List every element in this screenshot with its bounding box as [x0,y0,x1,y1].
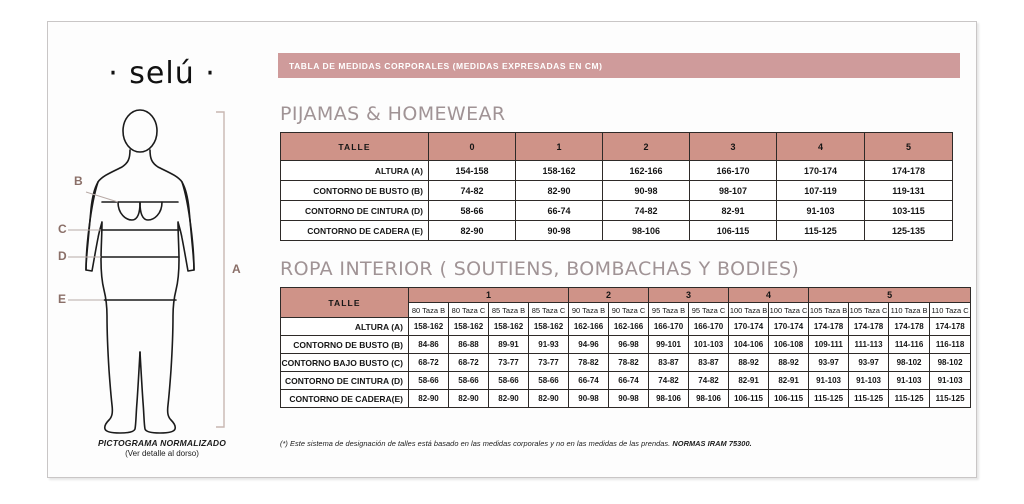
row-label: CONTORNO DE BUSTO (B) [281,336,409,354]
row-label: ALTURA (A) [281,161,429,181]
cell-value: 88-92 [729,354,769,372]
cell-value: 174-178 [889,318,930,336]
cell-value: 174-178 [930,318,971,336]
cell-value: 68-72 [449,354,489,372]
cell-value: 82-91 [690,201,777,221]
cell-value: 68-72 [409,354,449,372]
row-label: CONTORNO DE BUSTO (B) [281,181,429,201]
cell-value: 82-90 [449,390,489,408]
cell-value: 162-166 [609,318,649,336]
measurements-banner: TABLA DE MEDIDAS CORPORALES (MEDIDAS EXP… [278,53,960,78]
table2-group-header: 5 [809,288,971,303]
table1-size-header: 0 [429,133,516,161]
cell-value: 106-115 [729,390,769,408]
picto-label-b: B [74,174,83,188]
table2-talle-header: TALLE [281,288,409,318]
cell-value: 98-106 [603,221,690,241]
cell-value: 90-98 [609,390,649,408]
cell-value: 174-178 [849,318,889,336]
cell-value: 174-178 [865,161,953,181]
cell-value: 82-90 [489,390,529,408]
table2-sub-header: 85 Taza C [529,303,569,318]
cell-value: 74-82 [689,372,729,390]
cell-value: 74-82 [429,181,516,201]
row-label: ALTURA (A) [281,318,409,336]
size-chart-canvas: · selú · [0,0,1024,504]
cell-value: 106-115 [769,390,809,408]
cell-value: 170-174 [769,318,809,336]
section-title-ropa-interior: ROPA INTERIOR ( SOUTIENS, BOMBACHAS Y BO… [280,258,799,280]
pictogram-caption-line2: (Ver detalle al dorso) [48,449,276,460]
cell-value: 82-90 [529,390,569,408]
cell-value: 103-115 [865,201,953,221]
table2-group-header: 3 [649,288,729,303]
table2-sub-header: 80 Taza C [449,303,489,318]
cell-value: 82-90 [409,390,449,408]
cell-value: 115-125 [777,221,865,241]
height-bracket [216,112,224,427]
cell-value: 109-111 [809,336,849,354]
pictogram-caption: PICTOGRAMA NORMALIZADO (Ver detalle al d… [48,438,276,460]
table-row: CONTORNO DE CINTURA (D) 58-66 58-66 58-6… [281,372,971,390]
cell-value: 115-125 [930,390,971,408]
table2-sub-header: 85 Taza B [489,303,529,318]
cell-value: 74-82 [649,372,689,390]
body-pictogram: B C D E A [56,102,268,437]
row-label: CONTORNO BAJO BUSTO (C) [281,354,409,372]
table2-sub-header: 95 Taza C [689,303,729,318]
cell-value: 170-174 [777,161,865,181]
cell-value: 158-162 [489,318,529,336]
cell-value: 158-162 [409,318,449,336]
row-label: CONTORNO DE CINTURA (D) [281,201,429,221]
cell-value: 66-74 [569,372,609,390]
right-panel: TABLA DE MEDIDAS CORPORALES (MEDIDAS EXP… [276,22,976,477]
table-pijamas-homewear: TALLE 0 1 2 3 4 5 ALTURA (A) 154-158 158… [280,132,953,241]
cell-value: 98-106 [649,390,689,408]
cell-value: 78-82 [569,354,609,372]
picto-label-a: A [232,262,241,276]
pictogram-caption-line1: PICTOGRAMA NORMALIZADO [48,438,276,449]
table2-group-header: 2 [569,288,649,303]
cell-value: 82-90 [429,221,516,241]
cell-value: 74-82 [603,201,690,221]
cell-value: 91-103 [930,372,971,390]
cell-value: 66-74 [609,372,649,390]
brand-logo: · selú · [48,56,276,91]
cell-value: 84-86 [409,336,449,354]
row-label: CONTORNO DE CADERA(E) [281,390,409,408]
table2-sub-header: 100 Taza C [769,303,809,318]
footnote: (*) Este sistema de designación de talle… [280,439,970,448]
cell-value: 107-119 [777,181,865,201]
cell-value: 170-174 [729,318,769,336]
footnote-text: (*) Este sistema de designación de talle… [280,439,672,448]
table-row: CONTORNO DE CINTURA (D) 58-66 66-74 74-8… [281,201,953,221]
row-label: CONTORNO DE CINTURA (D) [281,372,409,390]
cell-value: 82-90 [516,181,603,201]
leader-b [86,192,118,202]
cell-value: 166-170 [690,161,777,181]
table-group-header-row: TALLE 1 2 3 4 5 [281,288,971,303]
picto-label-c: C [58,222,67,236]
cell-value: 111-113 [849,336,889,354]
cell-value: 90-98 [603,181,690,201]
cell-value: 98-102 [930,354,971,372]
table1-size-header: 2 [603,133,690,161]
cell-value: 91-103 [849,372,889,390]
cell-value: 115-125 [849,390,889,408]
chart-frame: · selú · [47,21,977,478]
cell-value: 98-106 [689,390,729,408]
cell-value: 158-162 [529,318,569,336]
cell-value: 91-103 [777,201,865,221]
table2-sub-header: 105 Taza C [849,303,889,318]
cell-value: 104-106 [729,336,769,354]
cell-value: 158-162 [449,318,489,336]
cell-value: 93-97 [809,354,849,372]
cell-value: 91-103 [809,372,849,390]
section-title-pijamas: PIJAMAS & HOMEWEAR [280,103,506,125]
cell-value: 162-166 [569,318,609,336]
row-label: CONTORNO DE CADERA (E) [281,221,429,241]
cell-value: 96-98 [609,336,649,354]
cell-value: 158-162 [516,161,603,181]
cell-value: 73-77 [529,354,569,372]
table2-sub-header: 95 Taza B [649,303,689,318]
table-row: CONTORNO DE BUSTO (B) 74-82 82-90 90-98 … [281,181,953,201]
table2-sub-header: 100 Taza B [729,303,769,318]
cell-value: 119-131 [865,181,953,201]
cell-value: 82-91 [729,372,769,390]
table-row: CONTORNO DE CADERA(E) 82-90 82-90 82-90 … [281,390,971,408]
table2-sub-header: 80 Taza B [409,303,449,318]
cell-value: 78-82 [609,354,649,372]
table1-size-header: 4 [777,133,865,161]
cell-value: 106-108 [769,336,809,354]
table2-sub-header: 90 Taza C [609,303,649,318]
cell-value: 166-170 [689,318,729,336]
cell-value: 98-107 [690,181,777,201]
table2-sub-header: 110 Taza C [930,303,971,318]
cell-value: 90-98 [569,390,609,408]
table-row: ALTURA (A) 158-162 158-162 158-162 158-1… [281,318,971,336]
cell-value: 125-135 [865,221,953,241]
left-panel: · selú · [48,22,276,477]
table1-size-header: 1 [516,133,603,161]
picto-label-d: D [58,249,67,263]
cell-value: 174-178 [809,318,849,336]
cell-value: 73-77 [489,354,529,372]
cell-value: 115-125 [809,390,849,408]
table-row: CONTORNO DE BUSTO (B) 84-86 86-88 89-91 … [281,336,971,354]
cell-value: 93-97 [849,354,889,372]
cell-value: 114-116 [889,336,930,354]
table-row: ALTURA (A) 154-158 158-162 162-166 166-1… [281,161,953,181]
cell-value: 99-101 [649,336,689,354]
table2-sub-header: 90 Taza B [569,303,609,318]
cell-value: 58-66 [489,372,529,390]
cell-value: 98-102 [889,354,930,372]
cell-value: 58-66 [409,372,449,390]
cell-value: 83-87 [689,354,729,372]
cell-value: 166-170 [649,318,689,336]
cell-value: 116-118 [930,336,971,354]
cell-value: 83-87 [649,354,689,372]
table1-talle-header: TALLE [281,133,429,161]
cell-value: 58-66 [449,372,489,390]
cell-value: 115-125 [889,390,930,408]
cell-value: 89-91 [489,336,529,354]
table1-size-header: 5 [865,133,953,161]
table1-size-header: 3 [690,133,777,161]
cell-value: 101-103 [689,336,729,354]
table-ropa-interior: TALLE 1 2 3 4 5 80 Taza B 80 Taza C 85 T… [280,287,971,408]
cell-value: 94-96 [569,336,609,354]
table-row: CONTORNO BAJO BUSTO (C) 68-72 68-72 73-7… [281,354,971,372]
table2-sub-header: 105 Taza B [809,303,849,318]
table2-group-header: 4 [729,288,809,303]
table-header-row: TALLE 0 1 2 3 4 5 [281,133,953,161]
cell-value: 162-166 [603,161,690,181]
cell-value: 91-103 [889,372,930,390]
table2-sub-header: 110 Taza B [889,303,930,318]
cell-value: 58-66 [529,372,569,390]
cell-value: 58-66 [429,201,516,221]
table-row: CONTORNO DE CADERA (E) 82-90 90-98 98-10… [281,221,953,241]
cell-value: 90-98 [516,221,603,241]
cell-value: 106-115 [690,221,777,241]
cell-value: 88-92 [769,354,809,372]
picto-label-e: E [58,292,66,306]
cell-value: 66-74 [516,201,603,221]
footnote-norm: NORMAS IRAM 75300. [672,439,751,448]
cell-value: 82-91 [769,372,809,390]
table2-group-header: 1 [409,288,569,303]
cell-value: 154-158 [429,161,516,181]
cell-value: 86-88 [449,336,489,354]
cell-value: 91-93 [529,336,569,354]
